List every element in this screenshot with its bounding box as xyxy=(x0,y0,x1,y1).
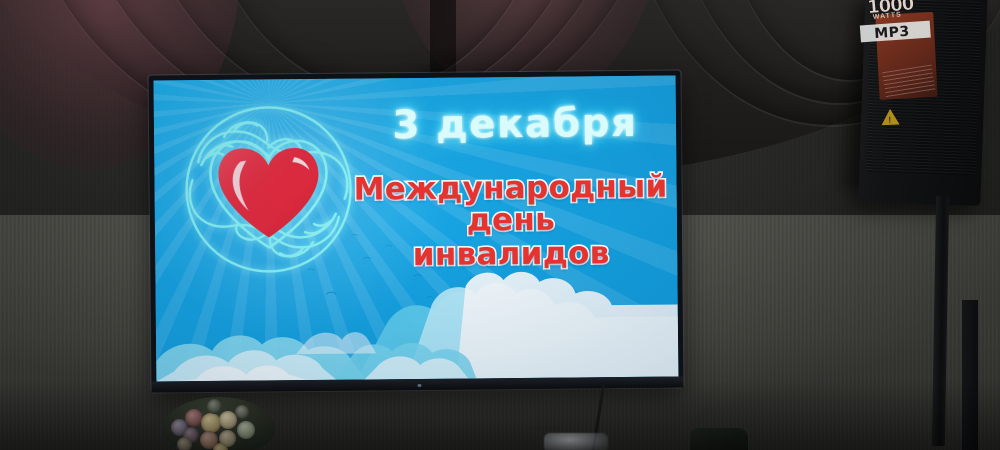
photo-scene: ︵ ︵ ︵ ︵ ︵ ︵ ︵ ︵ ︵ xyxy=(0,0,1000,450)
slide-title-line-2: инвалидов xyxy=(341,238,678,273)
warning-exclamation-icon: ! xyxy=(888,115,891,125)
pa-speaker-on-stand: 1000 WATTS MP3 ! xyxy=(858,0,987,206)
presentation-slide: ︵ ︵ ︵ ︵ ︵ ︵ ︵ ︵ ︵ xyxy=(154,76,679,382)
wall-mounted-television[interactable]: ︵ ︵ ︵ ︵ ︵ ︵ ︵ ︵ ︵ xyxy=(148,70,683,392)
tv-screen[interactable]: ︵ ︵ ︵ ︵ ︵ ︵ ︵ ︵ ︵ xyxy=(154,76,679,382)
slide-title-line-1: Международный день xyxy=(340,171,678,237)
slide-title: Международный день инвалидов xyxy=(340,171,678,272)
floor-shadow xyxy=(0,380,1000,450)
sticker-fine-print xyxy=(882,65,935,99)
slide-date-text: 3 декабря xyxy=(354,101,676,149)
